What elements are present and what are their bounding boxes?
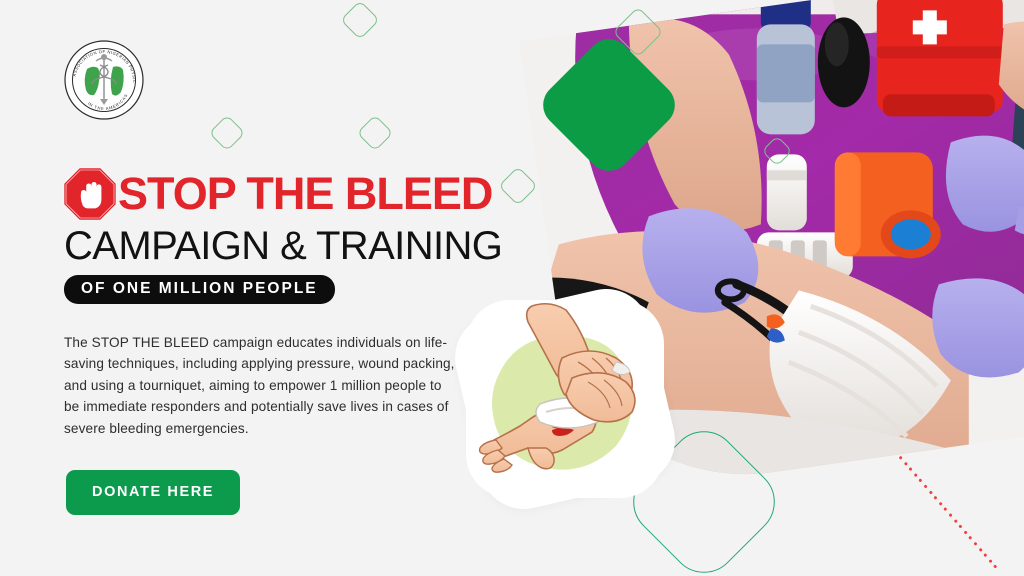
anpa-logo: ASSOCIATION OF NIGERIAN PHYSICIANS IN TH… <box>63 39 145 121</box>
wound-pressure-illustration <box>466 300 664 498</box>
headline-block: STOP THE BLEED CAMPAIGN & TRAINING OF ON… <box>64 166 534 304</box>
decorative-dotted-line <box>899 456 1001 573</box>
poster-canvas: ASSOCIATION OF NIGERIAN PHYSICIANS IN TH… <box>0 0 1024 576</box>
decorative-square-2 <box>209 115 246 152</box>
headline-badge: OF ONE MILLION PEOPLE <box>64 275 335 304</box>
stop-sign-hand-icon <box>62 166 118 222</box>
illustration-clip <box>466 300 664 498</box>
donate-here-button[interactable]: DONATE HERE <box>66 470 240 515</box>
headline-primary: STOP THE BLEED <box>118 171 492 217</box>
anpa-logo-graphic: ASSOCIATION OF NIGERIAN PHYSICIANS IN TH… <box>63 39 145 121</box>
decorative-square-3 <box>357 115 394 152</box>
wound-pressure-illustration-card <box>446 280 683 517</box>
headline-secondary: CAMPAIGN & TRAINING <box>64 224 534 268</box>
headline-line-1: STOP THE BLEED <box>64 166 534 222</box>
decorative-square-1 <box>340 0 380 40</box>
body-paragraph: The STOP THE BLEED campaign educates ind… <box>64 332 456 440</box>
